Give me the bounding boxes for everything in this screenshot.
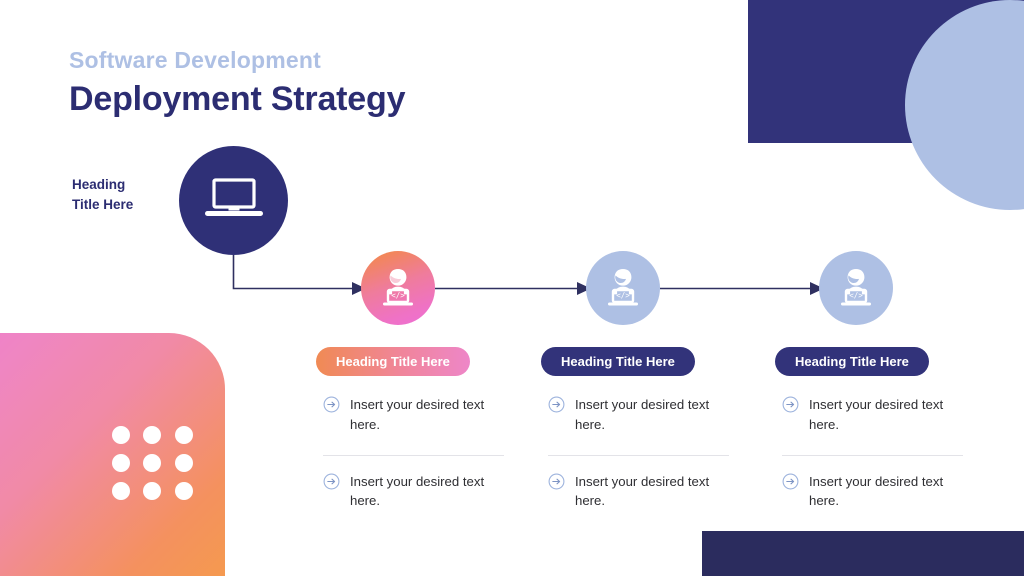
- bullet-list-2: Insert your desired text here. Insert yo…: [541, 395, 736, 513]
- developer-icon: </>: [599, 264, 647, 312]
- arrow-right-circle-icon: [323, 473, 340, 495]
- bullet-divider: [782, 455, 963, 456]
- root-node-label: HeadingTitle Here: [72, 175, 177, 214]
- list-item[interactable]: Insert your desired text here.: [541, 472, 736, 514]
- arrow-right-circle-icon: [548, 473, 565, 495]
- list-item[interactable]: Insert your desired text here.: [316, 472, 511, 514]
- list-item[interactable]: Insert your desired text here.: [541, 395, 736, 437]
- grid-dot: [175, 482, 193, 500]
- developer-icon: </>: [374, 264, 422, 312]
- list-item-label: Insert your desired text here.: [575, 472, 710, 512]
- list-item[interactable]: Insert your desired text here.: [775, 472, 970, 514]
- bullet-divider: [548, 455, 729, 456]
- arrow-right-circle-icon: [548, 396, 565, 418]
- grid-dot: [143, 426, 161, 444]
- list-item[interactable]: Insert your desired text here.: [316, 395, 511, 437]
- list-item-label: Insert your desired text here.: [350, 395, 485, 435]
- list-item-label: Insert your desired text here.: [575, 395, 710, 435]
- root-node-circle[interactable]: [179, 146, 288, 255]
- step-column-3: Heading Title Here Insert your desired t…: [775, 347, 970, 513]
- bullet-list-3: Insert your desired text here. Insert yo…: [775, 395, 970, 513]
- step-column-2: Heading Title Here Insert your desired t…: [541, 347, 736, 513]
- grid-dot: [143, 454, 161, 472]
- step-circle-1[interactable]: </>: [361, 251, 435, 325]
- slide-eyebrow: Software Development: [69, 46, 405, 75]
- laptop-icon: [203, 178, 265, 224]
- list-item-label: Insert your desired text here.: [809, 395, 944, 435]
- slide-canvas: Software Development Deployment Strategy…: [0, 0, 1024, 576]
- step-column-1: Heading Title Here Insert your desired t…: [316, 347, 511, 513]
- grid-dot: [175, 426, 193, 444]
- page-title: Deployment Strategy: [69, 79, 405, 120]
- step-title-pill-3[interactable]: Heading Title Here: [775, 347, 929, 376]
- developer-icon: </>: [832, 264, 880, 312]
- grid-dot: [112, 482, 130, 500]
- step-circle-2[interactable]: </>: [586, 251, 660, 325]
- svg-text:</>: </>: [391, 291, 405, 300]
- arrow-right-circle-icon: [323, 396, 340, 418]
- svg-text:</>: </>: [849, 291, 863, 300]
- grid-dot: [143, 482, 161, 500]
- list-item-label: Insert your desired text here.: [350, 472, 485, 512]
- step-circle-3[interactable]: </>: [819, 251, 893, 325]
- step-title-pill-1[interactable]: Heading Title Here: [316, 347, 470, 376]
- nine-dot-grid: [112, 426, 196, 502]
- list-item[interactable]: Insert your desired text here.: [775, 395, 970, 437]
- list-item-label: Insert your desired text here.: [809, 472, 944, 512]
- grid-dot: [112, 426, 130, 444]
- svg-text:</>: </>: [616, 291, 630, 300]
- step-title-pill-2[interactable]: Heading Title Here: [541, 347, 695, 376]
- grid-dot: [112, 454, 130, 472]
- arrow-right-circle-icon: [782, 396, 799, 418]
- bottom-right-navy-rectangle: [702, 531, 1024, 576]
- title-block: Software Development Deployment Strategy: [69, 46, 405, 120]
- bullet-divider: [323, 455, 504, 456]
- grid-dot: [175, 454, 193, 472]
- bullet-list-1: Insert your desired text here. Insert yo…: [316, 395, 511, 513]
- arrow-right-circle-icon: [782, 473, 799, 495]
